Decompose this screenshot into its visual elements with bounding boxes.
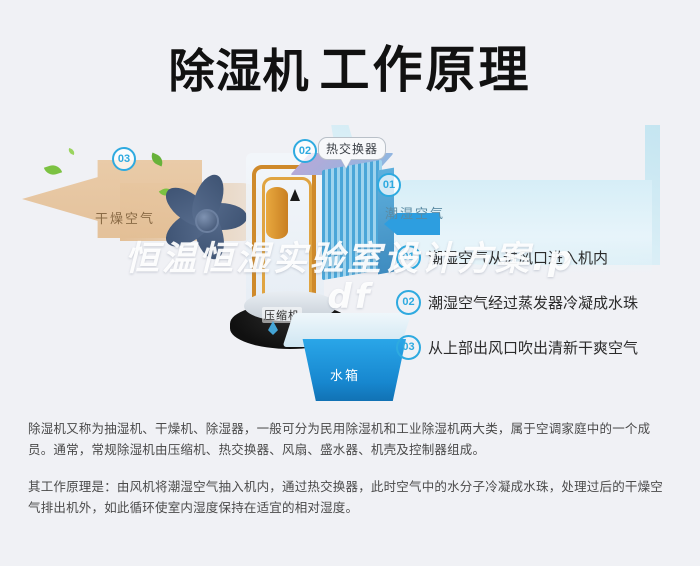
heat-exchanger-callout: 热交换器 [318, 137, 386, 160]
step-number: 01 [396, 245, 421, 270]
title-secondary: 工作原理 [320, 42, 532, 98]
list-item: 03 从上部出风口吹出清新干爽空气 [396, 335, 686, 360]
dry-air-label: 干燥空气 [95, 208, 155, 227]
steps-list: 01 潮湿空气从进风口进入机内 02 潮湿空气经过蒸发器冷凝成水珠 03 从上部… [396, 245, 686, 380]
humid-air-label: 潮湿空气 [385, 203, 445, 222]
heat-exchanger-fins [322, 160, 382, 281]
list-item: 02 潮湿空气经过蒸发器冷凝成水珠 [396, 290, 686, 315]
badge-dry-air: 03 [112, 147, 136, 171]
leaf-icon [67, 148, 75, 155]
paragraph-1: 除湿机又称为抽湿机、干燥机、除湿器，一般可分为民用除湿机和工业除湿机两大类，属于… [28, 418, 672, 460]
step-number: 03 [396, 335, 421, 360]
water-tank-label: 水箱 [330, 365, 360, 384]
title-primary: 除湿机 [169, 44, 310, 98]
step-text: 潮湿空气经过蒸发器冷凝成水珠 [428, 292, 638, 313]
badge-heat-exchanger: 02 [293, 139, 317, 163]
leaf-icon [44, 163, 62, 177]
arrow-up-icon [290, 189, 300, 201]
step-number: 02 [396, 290, 421, 315]
list-item: 01 潮湿空气从进风口进入机内 [396, 245, 686, 270]
step-text: 从上部出风口吹出清新干爽空气 [428, 337, 638, 358]
infographic-page: 除湿机工作原理 干燥空气 压缩机 [0, 0, 700, 566]
article-body: 除湿机又称为抽湿机、干燥机、除湿器，一般可分为民用除湿机和工业除湿机两大类，属于… [28, 418, 672, 534]
step-text: 潮湿空气从进风口进入机内 [428, 247, 608, 268]
badge-humid-air: 01 [377, 173, 401, 197]
compressor-cylinder [266, 187, 288, 239]
dehumidifier-diagram: 干燥空气 压缩机 水箱 03 02 热交换器 [0, 125, 700, 410]
paragraph-2: 其工作原理是：由风机将潮湿空气抽入机内，通过热交换器，此时空气中的水分子冷凝成水… [28, 476, 672, 518]
page-title: 除湿机工作原理 [0, 30, 700, 102]
